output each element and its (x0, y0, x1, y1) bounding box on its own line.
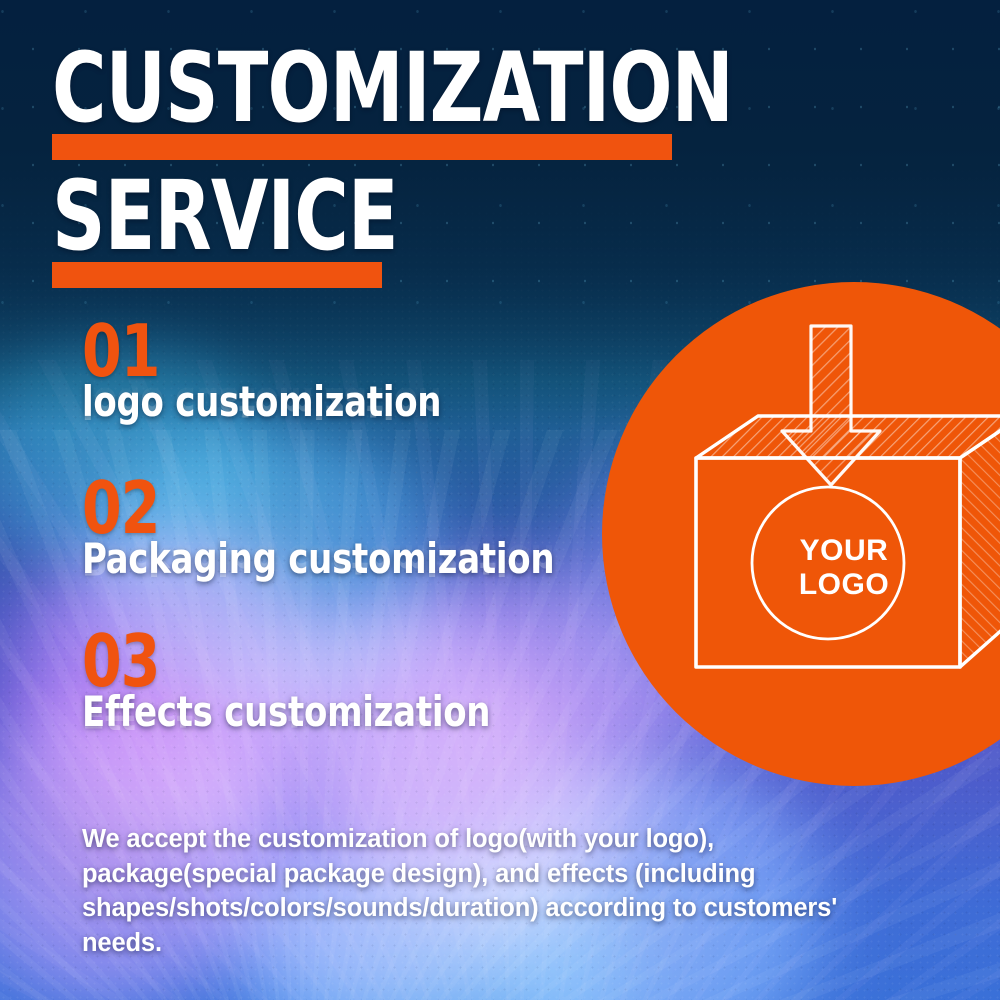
service-item-number: 02 (82, 479, 628, 538)
your-logo-line-1: YOUR (776, 534, 912, 568)
logo-customization-graphic: YOUR LOGO (602, 282, 1000, 786)
service-item-label: logo customization (82, 381, 441, 423)
arrow-down-icon (782, 326, 880, 485)
service-item-label: Packaging customization (82, 538, 554, 580)
service-item-number: 03 (82, 632, 628, 691)
service-item-label: Effects customization (82, 691, 490, 733)
headline-line-1-text: CUSTOMIZATION (52, 46, 654, 130)
your-logo-text: YOUR LOGO (776, 534, 912, 601)
headline-line-2-text: SERVICE (52, 174, 654, 258)
page-title: CUSTOMIZATION SERVICE (52, 46, 752, 259)
your-logo-line-2: LOGO (776, 568, 912, 602)
service-item-number: 01 (82, 322, 628, 381)
box-top-face (696, 416, 1000, 458)
box-right-face (960, 416, 1000, 667)
customization-service-banner: CUSTOMIZATION SERVICE 01 logo customizat… (0, 0, 1000, 1000)
headline-line-1: CUSTOMIZATION (52, 46, 752, 130)
description-paragraph: We accept the customization of logo(with… (82, 822, 852, 961)
headline-line-2: SERVICE (52, 174, 752, 258)
